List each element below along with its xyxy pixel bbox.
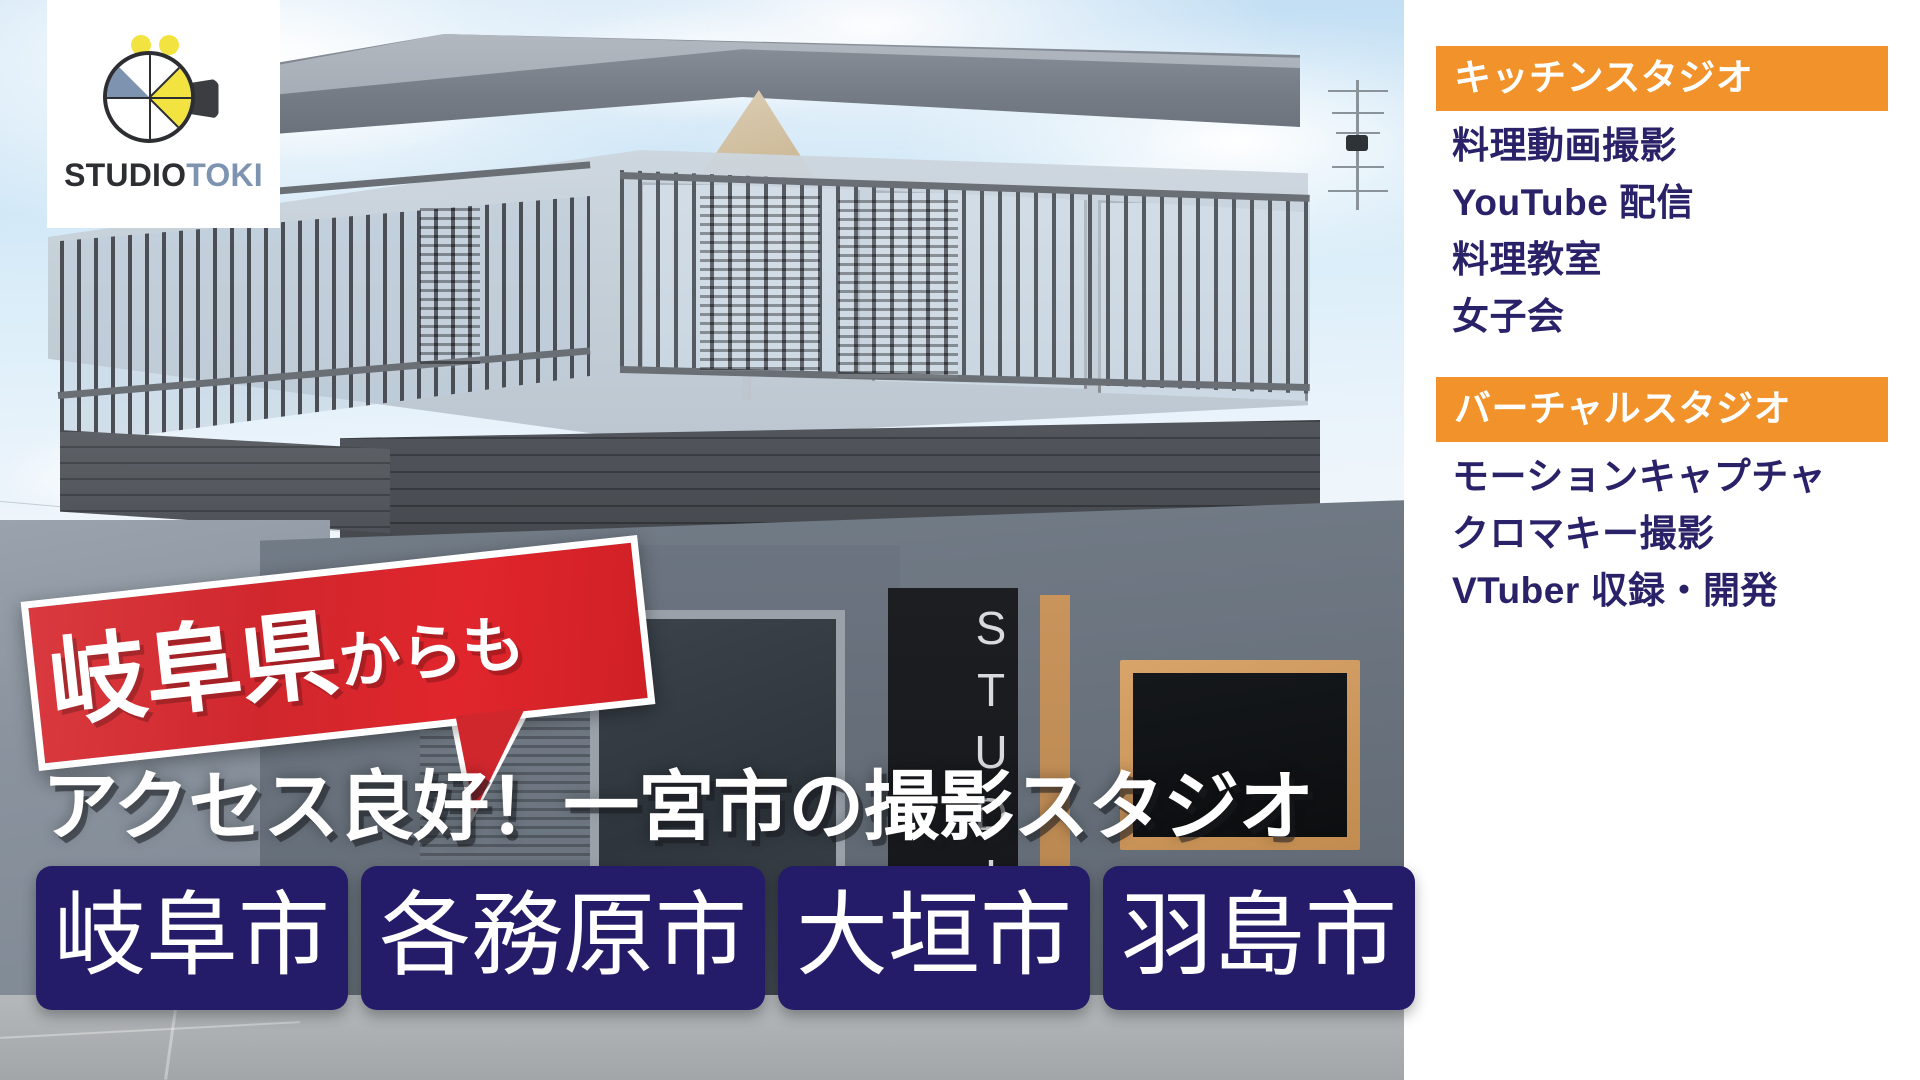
louvre-panel bbox=[700, 196, 820, 371]
logo-word-toki: TOKI bbox=[186, 157, 263, 193]
aperture-ring-icon bbox=[103, 51, 195, 143]
service-item-youtube-live: YouTube 配信 bbox=[1452, 184, 1888, 221]
city-chip-ogaki[interactable]: 大垣市 bbox=[778, 866, 1090, 1010]
service-item-girls-party: 女子会 bbox=[1452, 298, 1888, 335]
city-chip-hashima[interactable]: 羽島市 bbox=[1103, 866, 1415, 1010]
aperture-segment-blue bbox=[103, 67, 149, 97]
service-item-cooking-video: 料理動画撮影 bbox=[1452, 127, 1888, 164]
services-panel: キッチンスタジオ 料理動画撮影 YouTube 配信 料理教室 女子会 バーチャ… bbox=[1404, 0, 1920, 1080]
yellow-dot-icon bbox=[159, 35, 179, 55]
badge-prefix: 岐阜県 bbox=[44, 605, 341, 733]
city-chip-gifu[interactable]: 岐阜市 bbox=[36, 866, 348, 1010]
louvre-panel bbox=[838, 200, 958, 378]
service-item-cooking-class: 料理教室 bbox=[1452, 241, 1888, 278]
section-spacer bbox=[1436, 355, 1888, 377]
badge-suffix: からも bbox=[336, 613, 528, 695]
poster-canvas: STUDIO STUDIOTOKI bbox=[0, 0, 1920, 1080]
aperture-circle-icon bbox=[89, 35, 239, 145]
service-item-motion-capture: モーションキャプチャ bbox=[1452, 458, 1888, 495]
city-chip-row: 岐阜市 各務原市 大垣市 羽島市 bbox=[36, 866, 1415, 1010]
headline-text: アクセス良好！一宮市の撮影スタジオ bbox=[42, 770, 1313, 846]
section-header-kitchen-studio: キッチンスタジオ bbox=[1436, 46, 1888, 111]
studio-logo-card: STUDIOTOKI bbox=[47, 0, 280, 228]
logo-wordmark: STUDIOTOKI bbox=[64, 157, 263, 194]
logo-word-studio: STUDIO bbox=[64, 157, 186, 193]
section-header-virtual-studio: バーチャルスタジオ bbox=[1436, 377, 1888, 442]
service-item-chroma-key: クロマキー撮影 bbox=[1452, 515, 1888, 552]
tv-antenna-icon bbox=[1322, 80, 1392, 210]
service-item-vtuber: VTuber 収録・開発 bbox=[1452, 572, 1888, 609]
louvre-panel bbox=[420, 208, 480, 368]
city-chip-kakamigahara[interactable]: 各務原市 bbox=[361, 866, 765, 1010]
